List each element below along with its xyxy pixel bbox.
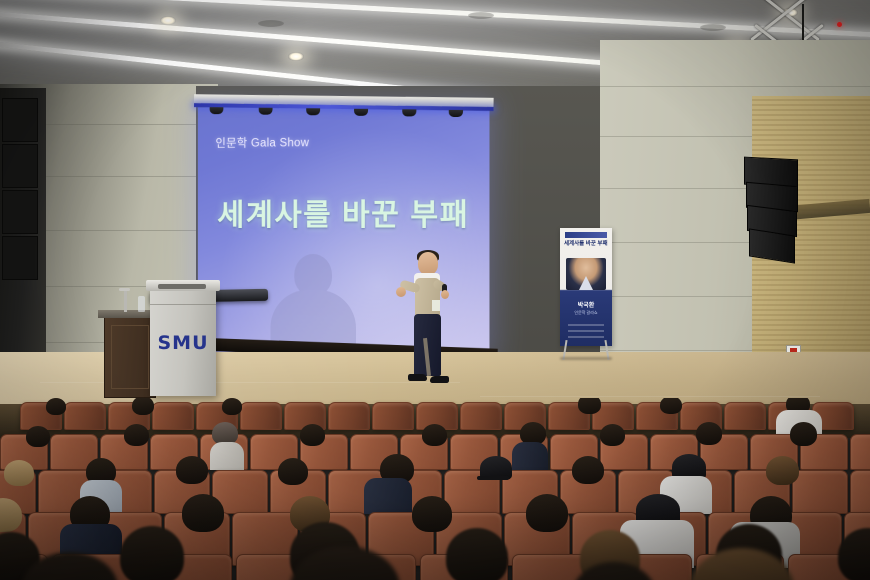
ceiling-clip-speaker — [402, 109, 416, 116]
lectern-slot — [158, 284, 206, 289]
presenter-shadow — [271, 254, 356, 354]
left-dark-column — [0, 88, 46, 388]
wood-cabinet — [104, 316, 156, 398]
lectern-seam — [150, 304, 216, 305]
ceiling-clip-speaker — [306, 108, 320, 115]
banner-speaker-name: 박국환 — [560, 300, 612, 309]
wall-speaker — [2, 144, 38, 188]
line-array-speaker-icon — [744, 158, 804, 262]
presenter-left-hand — [396, 287, 406, 297]
presenter-head — [418, 252, 438, 275]
banner-logo-strip — [568, 322, 604, 338]
banner-shadow — [560, 357, 612, 360]
banner-speaker-photo — [566, 258, 606, 290]
roll-up-banner: 세계사를 바꾼 부패 박국환 인문학 갈라쇼 — [560, 228, 612, 360]
ceiling-clip-speaker — [354, 109, 368, 116]
presenter-badge — [432, 300, 440, 311]
ceiling-spotlight — [288, 52, 304, 61]
recessed-downlight — [258, 20, 284, 27]
wall-speaker — [2, 98, 38, 142]
presenter-right-hand — [441, 290, 449, 299]
projector-status-led — [837, 22, 842, 27]
banner-subtitle: 인문학 갈라쇼 — [560, 310, 612, 316]
ceiling-spotlight — [160, 16, 176, 25]
recessed-downlight — [468, 12, 494, 19]
presenter-shoe — [430, 376, 449, 383]
ceiling-clip-speaker — [259, 108, 273, 115]
audience-shading — [0, 398, 870, 580]
lectern: SMU — [150, 288, 216, 396]
wall-speaker — [2, 190, 38, 234]
presenter — [402, 252, 450, 392]
banner-title-text: 세계사를 바꾼 부패 — [564, 241, 608, 248]
presenter-shoe — [408, 374, 427, 381]
faucet-icon — [124, 288, 127, 312]
counter-top — [98, 310, 158, 318]
slide-title-text: 세계사를 바꾼 부패 — [198, 190, 490, 235]
banner-header-bar — [565, 232, 607, 238]
ceiling-clip-speaker — [210, 107, 224, 114]
recessed-downlight — [700, 24, 726, 31]
ceiling-clip-speaker — [449, 110, 463, 117]
podium-logo-text: SMU — [150, 332, 216, 354]
cabinet-door[interactable] — [111, 325, 149, 389]
lecture-hall-photo: 인문학 Gala Show 세계사를 바꾼 부패 SMU — [0, 0, 870, 580]
speaker-cabinet — [749, 228, 795, 263]
slide-header-text: 인문학 Gala Show — [215, 134, 309, 151]
water-bottle — [138, 296, 145, 312]
wall-speaker — [2, 236, 38, 280]
